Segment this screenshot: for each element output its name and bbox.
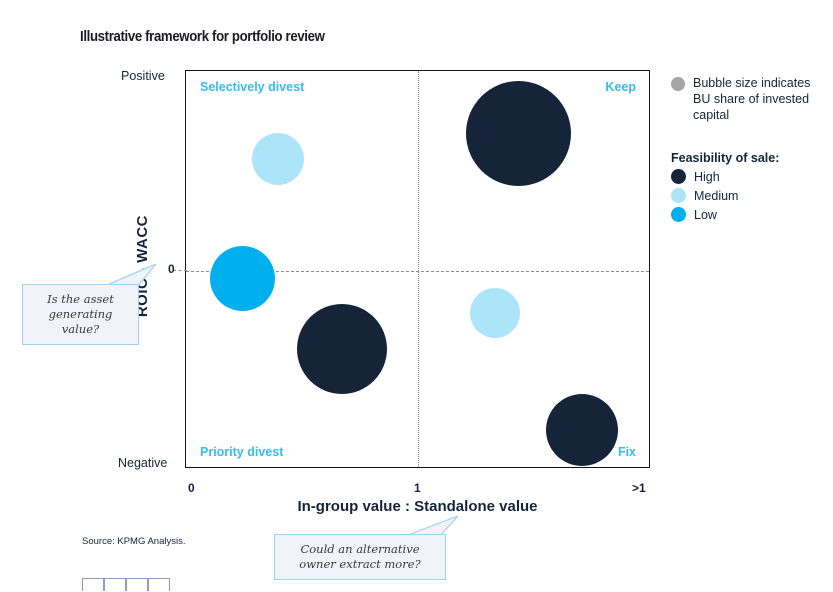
bottom-partial-toolbar[interactable]: [82, 578, 170, 591]
quadrant-label-selectively-divest: Selectively divest: [200, 80, 304, 94]
bubble-bu2[interactable]: [252, 133, 304, 185]
vertical-divider-gridline: [418, 71, 419, 467]
legend-item-label: High: [694, 170, 720, 184]
callout-asset-value: Is the asset generating value?: [22, 284, 139, 345]
quadrant-label-fix: Fix: [618, 445, 636, 459]
y-axis-tick-zero: 0: [168, 262, 175, 276]
legend-items: HighMediumLow: [671, 169, 826, 222]
legend-feasibility-title: Feasibility of sale:: [671, 151, 826, 165]
x-axis-tick-one: 1: [414, 481, 421, 495]
bubble-bu6[interactable]: [546, 394, 618, 466]
source-note: Source: KPMG Analysis.: [82, 536, 185, 547]
y-axis-tick-positive: Positive: [121, 69, 165, 83]
page-title: Illustrative framework for portfolio rev…: [80, 28, 325, 45]
bottom-partial-cell[interactable]: [126, 578, 148, 591]
bubble-bu4[interactable]: [297, 304, 387, 394]
legend-item-high[interactable]: High: [671, 169, 826, 184]
bubble-bu3[interactable]: [210, 246, 275, 311]
bubble-bu1[interactable]: [466, 81, 571, 186]
bottom-partial-cell[interactable]: [82, 578, 104, 591]
x-axis-tick-zero: 0: [188, 481, 195, 495]
chart-plot-area: Selectively divest Keep Priority divest …: [185, 70, 650, 468]
legend-item-medium[interactable]: Medium: [671, 188, 826, 203]
legend-swatch-high-icon: [671, 169, 686, 184]
legend-size-swatch-icon: [671, 77, 685, 91]
chart-legend: Bubble size indicates BU share of invest…: [671, 75, 826, 222]
quadrant-label-priority-divest: Priority divest: [200, 445, 283, 459]
bubble-bu5[interactable]: [470, 288, 520, 338]
legend-item-low[interactable]: Low: [671, 207, 826, 222]
legend-item-label: Low: [694, 208, 717, 222]
callout-alternative-owner: Could an alternative owner extract more?: [274, 534, 446, 580]
zero-axis-tick-dash: [173, 270, 187, 271]
legend-size-note-text: Bubble size indicates BU share of invest…: [693, 75, 826, 123]
legend-bubble-size-note: Bubble size indicates BU share of invest…: [671, 75, 826, 123]
quadrant-label-keep: Keep: [605, 80, 636, 94]
x-axis-tick-greater-than-one: >1: [632, 481, 646, 495]
legend-item-label: Medium: [694, 189, 738, 203]
bottom-partial-cell[interactable]: [148, 578, 170, 591]
x-axis-label: In-group value : Standalone value: [185, 498, 650, 515]
y-axis-tick-negative: Negative: [118, 456, 167, 470]
legend-swatch-low-icon: [671, 207, 686, 222]
bottom-partial-cell[interactable]: [104, 578, 126, 591]
legend-swatch-medium-icon: [671, 188, 686, 203]
